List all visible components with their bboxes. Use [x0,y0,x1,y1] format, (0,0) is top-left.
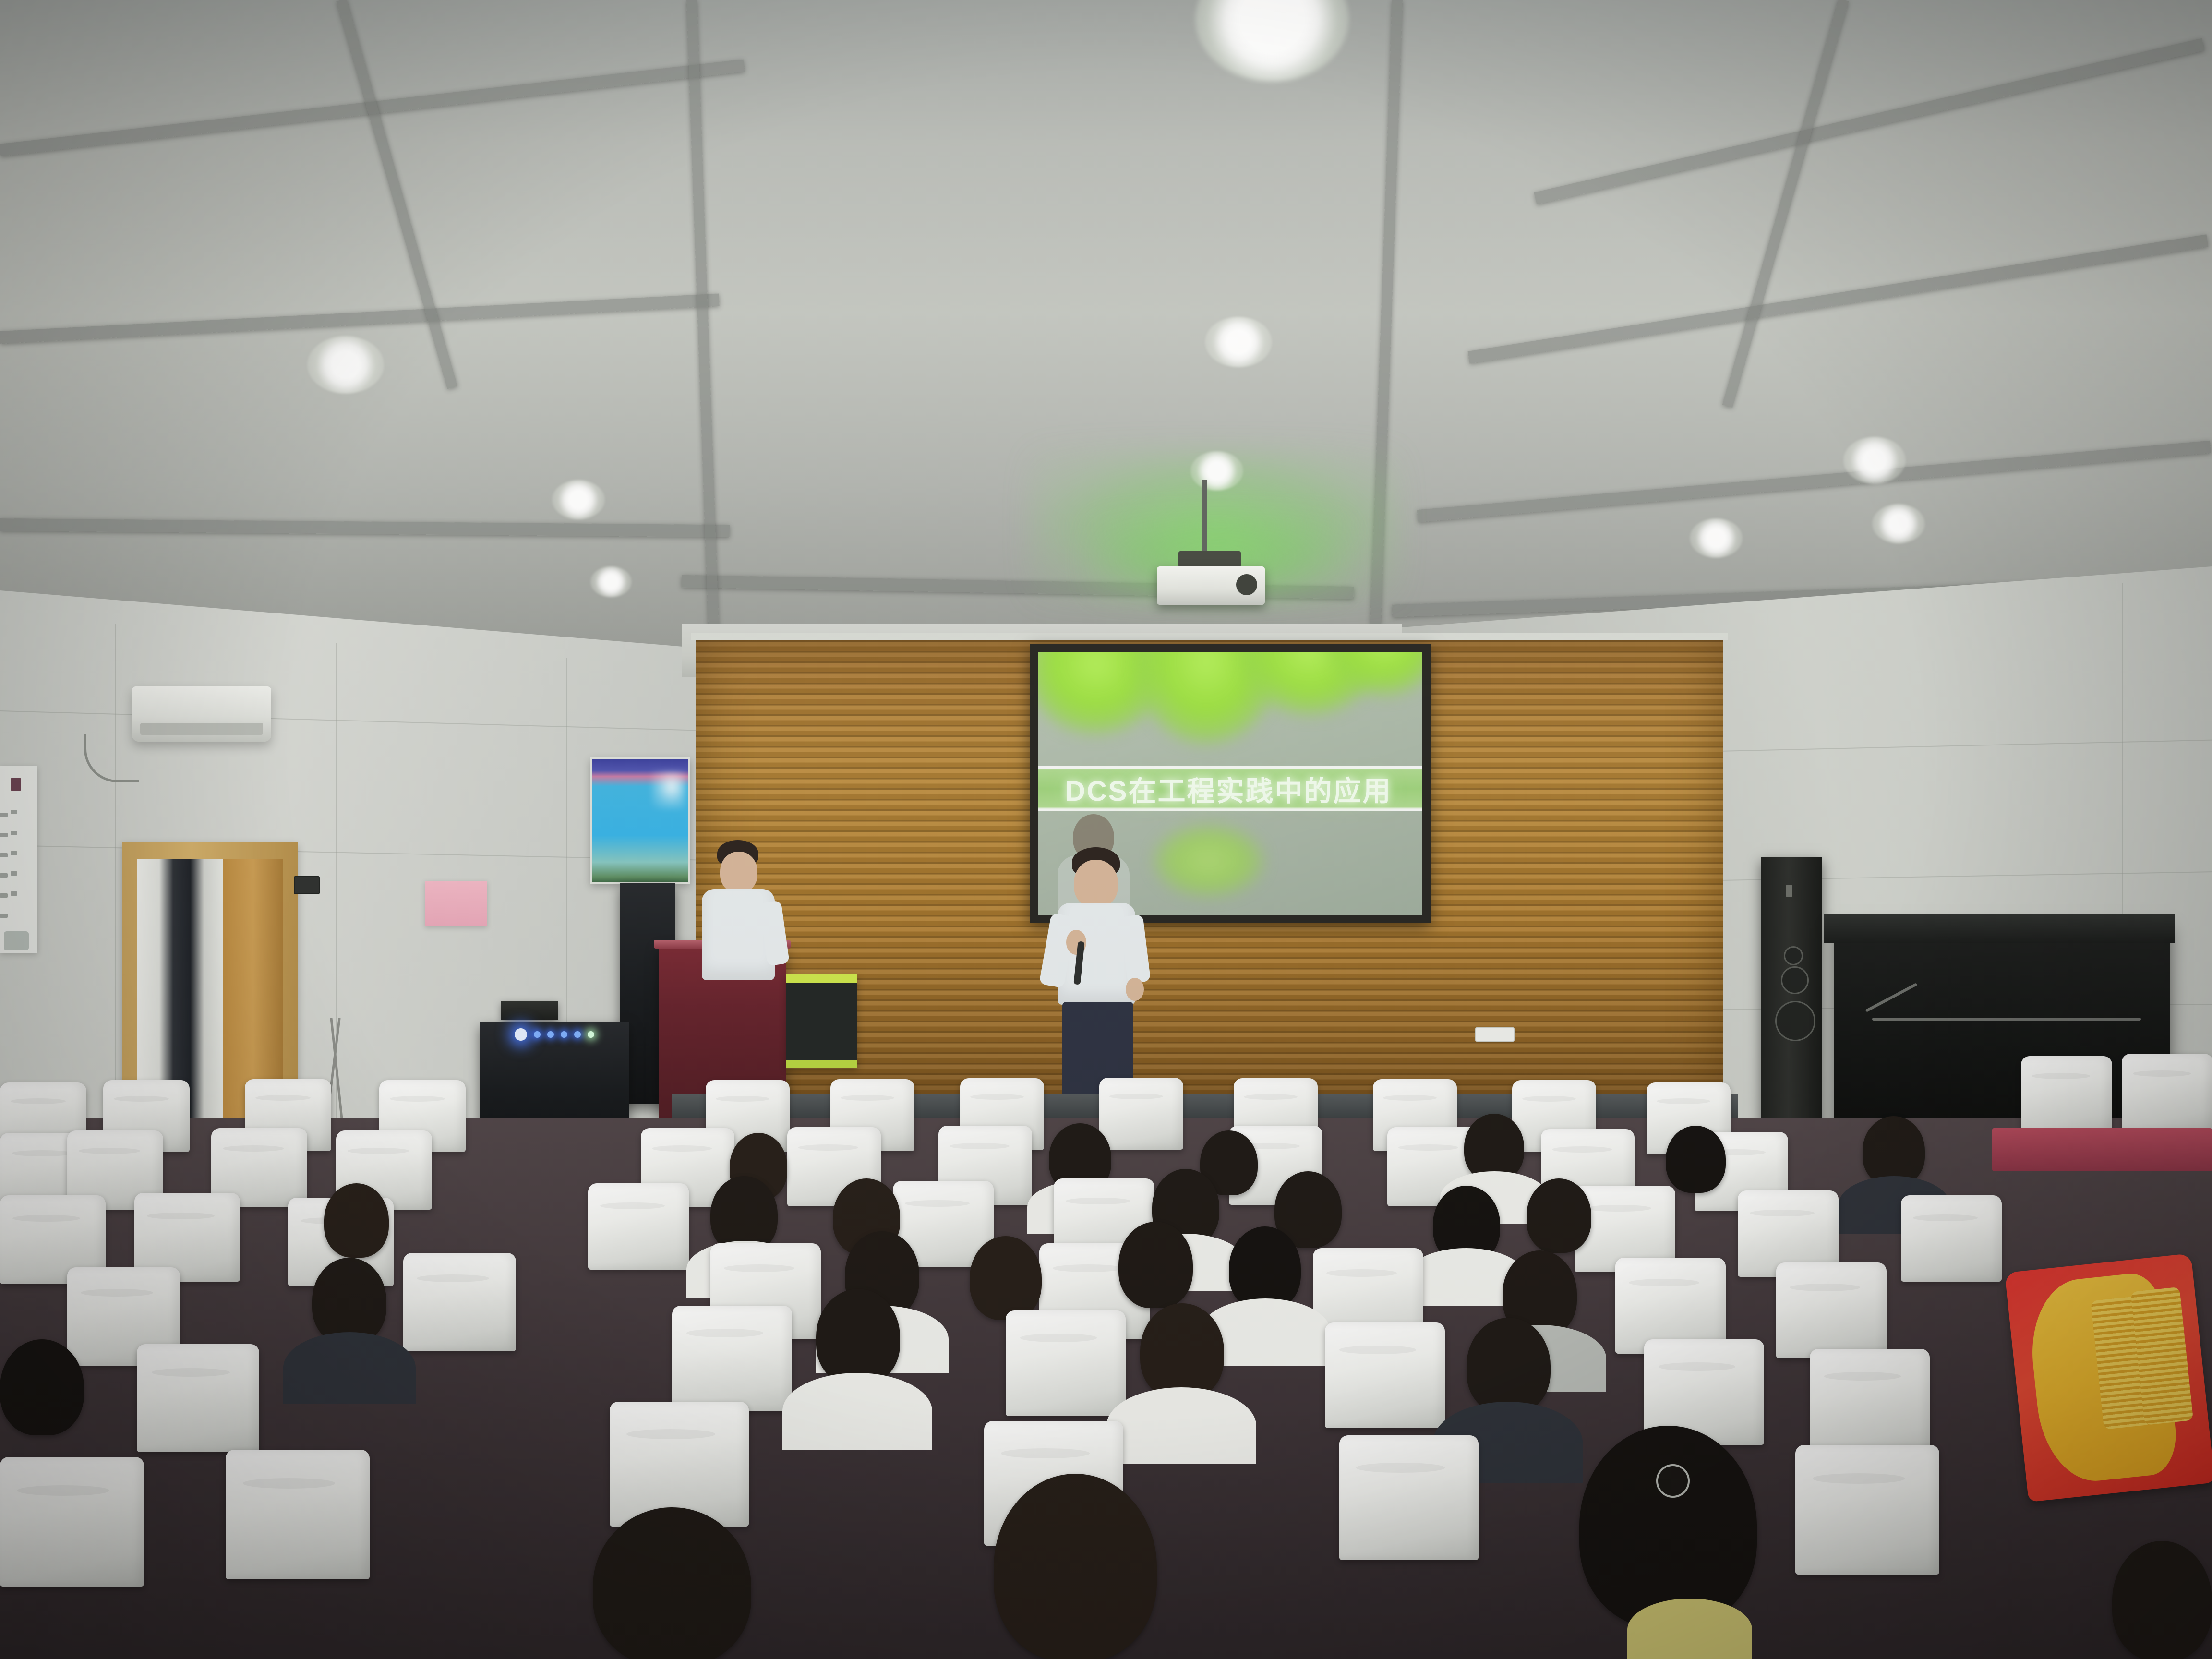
seat-cover [2122,1054,2212,1130]
notice-line [0,914,8,918]
presenter [1034,847,1159,1097]
notice-line [0,853,8,857]
auditorium-seat[interactable] [1325,1322,1445,1428]
auditorium-seat[interactable] [226,1450,370,1579]
speaker-tower [1761,857,1822,1145]
speaker-woofer [1775,1001,1815,1041]
auditorium-seat[interactable] [588,1183,689,1270]
podium-host [691,840,787,979]
projector-lens [1236,574,1257,595]
pink-paper-note [425,881,487,926]
speaker-tweeter [1784,946,1803,965]
presenter-head [1074,860,1118,908]
notice-line [0,833,8,837]
wall-notice [0,766,37,953]
piano-lid [1824,914,2175,943]
mixer-top-box [501,1001,558,1020]
wall-outlet[interactable] [1475,1027,1515,1042]
auditorium-seat[interactable] [0,1457,144,1587]
recessed-downlight [1872,504,1925,543]
seat-cover [137,1344,259,1452]
projector-bracket [1178,551,1241,567]
audience-head-foreground [593,1507,751,1659]
audience-head-foreground [2112,1541,2212,1659]
seat-cover [588,1183,689,1270]
audience-head [1863,1116,1925,1186]
wall-poster [590,757,690,884]
seat-cover [1795,1445,1939,1575]
speaker-port [1786,885,1792,897]
audience-head [1527,1178,1591,1253]
auditorium-seat[interactable] [1776,1262,1887,1358]
notice-line [11,831,17,835]
seat-cover [1006,1310,1126,1416]
auditorium-seat[interactable] [1810,1349,1930,1455]
piano-keyboard-edge [1872,1018,2141,1021]
green-chair[interactable] [786,974,857,1068]
seat-cover [1810,1349,1930,1455]
status-led [574,1031,581,1038]
auditorium-seat[interactable] [1006,1310,1126,1416]
auditorium-seat[interactable] [2122,1054,2212,1130]
seat-cover [1776,1262,1887,1358]
status-led [547,1031,554,1038]
notice-line [11,778,21,791]
power-led [515,1028,527,1041]
recessed-downlight [1205,317,1272,367]
audience-head [1467,1318,1551,1414]
seat-base [1992,1128,2212,1171]
auditorium-seat[interactable] [403,1253,516,1351]
auditorium-seat[interactable] [2021,1056,2112,1133]
host-head [720,852,757,893]
audience-head [1666,1126,1726,1193]
slide-graphic-blob [1154,825,1264,897]
auditorium-seat[interactable] [1099,1078,1183,1150]
projector-mount-pole [1202,480,1207,552]
status-led [588,1031,594,1038]
speaker-midrange [1781,966,1809,994]
notice-line [11,810,17,814]
seat-cover [403,1253,516,1351]
audience-shoulders [1106,1387,1256,1464]
recessed-downlight [1690,518,1743,558]
seat-cover [1901,1195,2002,1282]
notice-line [11,871,17,876]
wood-wall-trim [691,633,1728,640]
auditorium-seat[interactable] [1901,1195,2002,1282]
seat-cover [1339,1435,1479,1560]
audience-shoulders [283,1332,416,1404]
auditorium-seat[interactable] [1795,1445,1939,1575]
audience-head [1140,1303,1224,1399]
recessed-downlight [1843,437,1906,484]
recessed-downlight [1190,451,1243,491]
wall-tile-seam [115,624,116,1152]
orange-backpack[interactable] [2005,1253,2212,1502]
audience-head [816,1289,900,1385]
notice-line [4,931,29,950]
status-led [534,1031,541,1038]
split-air-conditioner [132,686,271,742]
audio-rack-leds [515,1028,594,1041]
seat-cover [2021,1056,2112,1133]
auditorium-seat[interactable] [137,1344,259,1452]
audience-shoulders [1627,1599,1752,1659]
slide-title-text: DCS在工程实践中的应用 [1038,769,1392,809]
notice-line [0,893,8,898]
seat-cover [226,1450,370,1579]
auditorium-seat[interactable] [672,1306,792,1411]
audience-head [970,1236,1042,1320]
seat-cover [672,1306,792,1411]
audience-head-foreground [994,1474,1157,1659]
seat-cover [1099,1078,1183,1150]
audience-head [0,1339,84,1435]
notice-line [0,873,8,878]
status-led [561,1031,567,1038]
notice-line [11,891,17,896]
poster-glare [652,772,685,809]
notice-line [11,851,17,855]
recessed-downlight [590,566,632,597]
presenter-right-hand [1126,978,1144,1001]
slide-title-band: DCS在工程实践中的应用 [1038,766,1422,811]
audience-head [1118,1222,1193,1308]
seat-cover [1325,1322,1445,1428]
audience-head [324,1183,389,1258]
notice-line [0,813,8,817]
audience-head [1464,1114,1524,1181]
upright-piano [1834,922,2170,1138]
audience-shoulders [782,1373,932,1450]
seat-cover [0,1457,144,1587]
lecture-hall-photo: DCS在工程实践中的应用 [0,0,2212,1659]
audience-head [312,1258,386,1344]
audience-head [1229,1226,1301,1310]
wall-switch[interactable] [294,876,320,894]
ac-vent [140,723,263,735]
recessed-downlight [552,480,605,519]
recessed-downlight [307,336,384,394]
audience-head-foreground [1579,1426,1757,1627]
hair-clip [1656,1464,1690,1498]
auditorium-seat[interactable] [1339,1435,1479,1560]
